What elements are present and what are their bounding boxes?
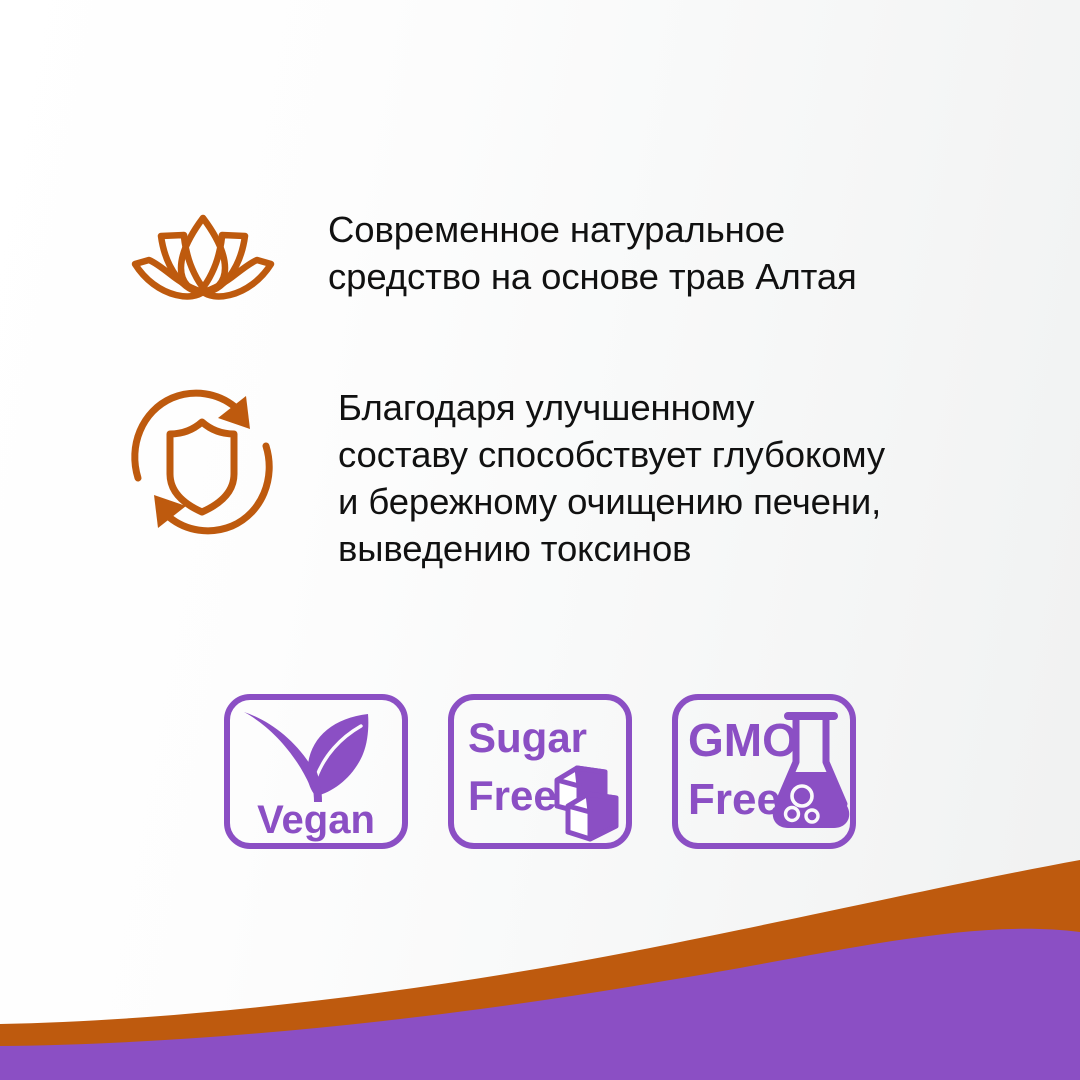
benefit-item-natural: Современное натуральное средство на осно… (128, 196, 857, 312)
badge-sugar-free-label-line-2: Free (468, 772, 557, 819)
shield-renew-icon (122, 382, 282, 542)
orange-wave-band (0, 860, 1080, 1080)
sugar-cubes-icon (557, 768, 616, 839)
benefit-text-detox: Благодаря улучшенному составу способству… (338, 384, 885, 572)
badge-sugar-free-label-line-1: Sugar (468, 714, 587, 761)
leaf-check-icon (244, 712, 368, 802)
badge-vegan[interactable]: Vegan (224, 694, 408, 849)
poster-canvas: Современное натуральное средство на осно… (0, 0, 1080, 1080)
lotus-flower-icon (128, 202, 278, 312)
badge-sugar-free[interactable]: Sugar Free (448, 694, 632, 849)
benefit-text-natural: Современное натуральное средство на осно… (328, 206, 857, 300)
badge-gmo-free-label-line-2: Free (688, 775, 781, 824)
badge-gmo-free-label-line-1: GMO (688, 714, 798, 766)
bottom-wave-decoration (0, 860, 1080, 1080)
benefit-item-detox: Благодаря улучшенному составу способству… (122, 378, 885, 572)
badge-vegan-label: Vegan (257, 798, 375, 842)
certification-badges: Vegan Sugar Free (224, 694, 856, 849)
badge-gmo-free[interactable]: GMO Free (672, 694, 856, 849)
purple-wave-band (0, 929, 1080, 1080)
